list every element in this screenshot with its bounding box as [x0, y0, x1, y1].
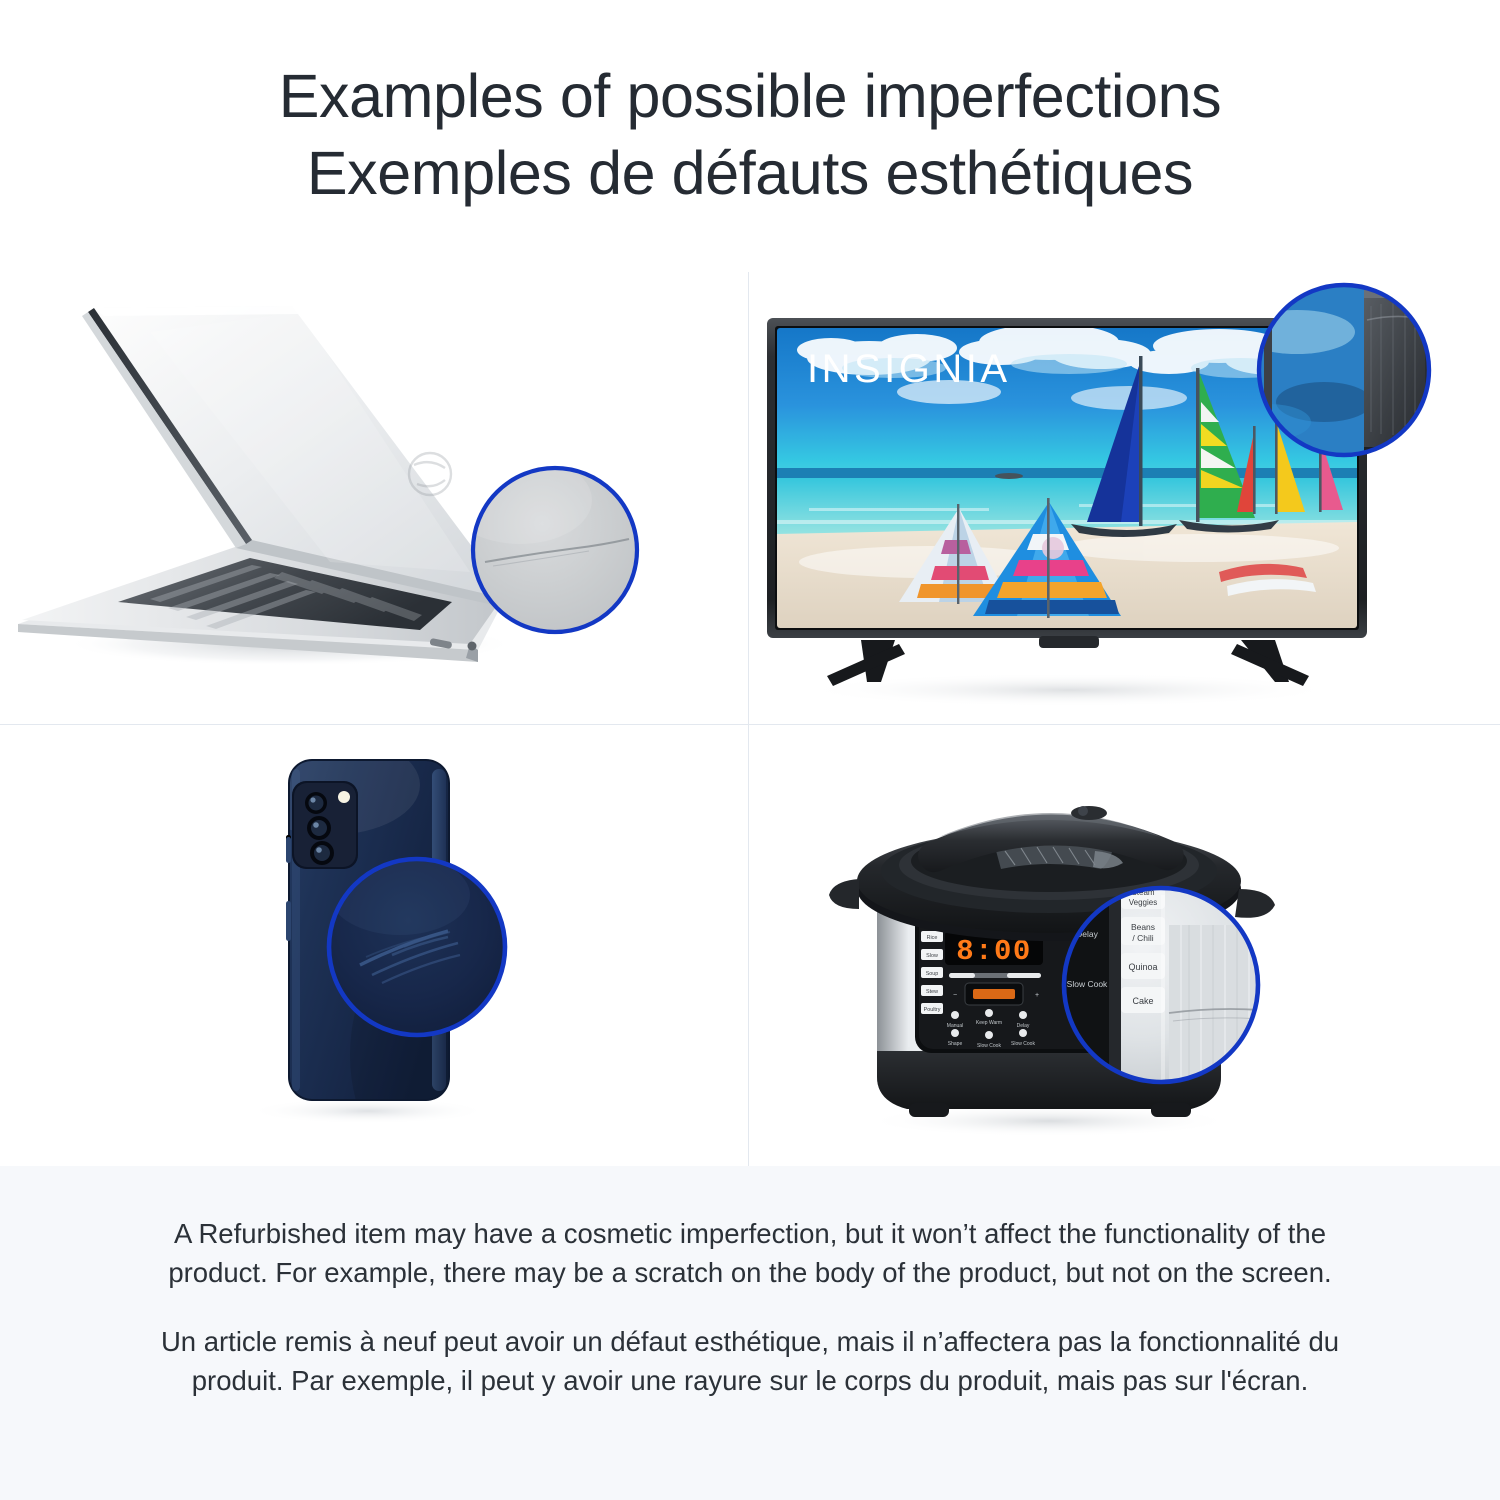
phone-volume-button[interactable]: [286, 837, 291, 863]
svg-text:Veggies: Veggies: [1129, 898, 1157, 907]
phone-power-button[interactable]: [286, 901, 291, 941]
tv-illustration: INSIGNIA: [749, 272, 1500, 724]
svg-text:Slow Cook: Slow Cook: [1067, 979, 1108, 989]
refurbished-imperfections-infographic: Examples of possible imperfections Exemp…: [0, 0, 1500, 1500]
svg-text:Delay: Delay: [1017, 1023, 1030, 1029]
examples-grid: INSIGNIA: [0, 272, 1500, 1166]
svg-text:Manual: Manual: [947, 1023, 963, 1029]
phone-panel: [0, 725, 748, 1166]
svg-text:/ Chili: / Chili: [1132, 933, 1153, 943]
description-english: A Refurbished item may have a cosmetic i…: [150, 1214, 1350, 1292]
title-line-english: Examples of possible imperfections: [0, 58, 1500, 135]
title-line-french: Exemples de défauts esthétiques: [0, 135, 1500, 212]
camera-flash-icon: [338, 791, 350, 803]
phone-camera-module: [292, 781, 358, 869]
description-french: Un article remis à neuf peut avoir un dé…: [150, 1322, 1350, 1400]
svg-text:Cake: Cake: [1132, 996, 1153, 1006]
svg-text:Shape: Shape: [948, 1041, 963, 1047]
svg-text:−: −: [953, 992, 957, 999]
phone-magnifier-circle: [329, 855, 505, 1035]
description-text-container: A Refurbished item may have a cosmetic i…: [150, 1214, 1350, 1400]
page-title: Examples of possible imperfections Exemp…: [0, 58, 1500, 212]
tv-brand-wordmark: INSIGNIA: [807, 347, 1011, 391]
svg-text:Stew: Stew: [926, 989, 938, 995]
pressure-cooker-panel: INSIGNIA 8:00 − +: [749, 725, 1500, 1166]
svg-text:Slow Cook: Slow Cook: [1011, 1041, 1035, 1047]
tv-panel: INSIGNIA: [749, 272, 1500, 724]
svg-text:Beans: Beans: [1131, 922, 1155, 932]
svg-text:Soup: Soup: [926, 971, 939, 977]
steam-valve-icon: [1078, 806, 1088, 816]
svg-text:Keep Warm: Keep Warm: [976, 1020, 1002, 1026]
pressure-cooker-illustration: INSIGNIA 8:00 − +: [749, 725, 1500, 1166]
svg-text:+: +: [1035, 992, 1039, 999]
phone-illustration: [0, 725, 748, 1166]
svg-text:Slow: Slow: [926, 953, 938, 959]
svg-text:Slow Cook: Slow Cook: [977, 1043, 1001, 1049]
svg-text:Rice: Rice: [927, 935, 938, 941]
laptop-panel: [0, 272, 748, 724]
svg-text:Quinoa: Quinoa: [1128, 962, 1157, 972]
svg-text:Poultry: Poultry: [924, 1007, 941, 1013]
description-band: A Refurbished item may have a cosmetic i…: [0, 1166, 1500, 1500]
laptop-illustration: [0, 272, 748, 724]
